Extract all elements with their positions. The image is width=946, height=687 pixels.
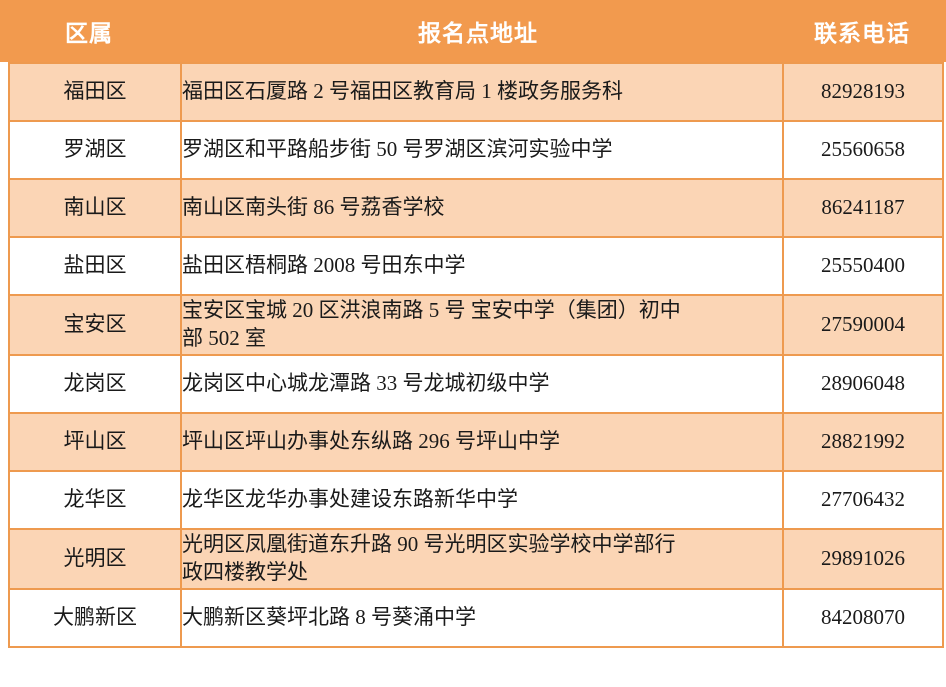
column-header-district: 区属 <box>0 14 178 48</box>
table-row: 盐田区盐田区梧桐路 2008 号田东中学25550400 <box>9 237 943 295</box>
column-header-phone: 联系电话 <box>778 14 946 48</box>
cell-district: 龙华区 <box>9 471 181 529</box>
address-line: 罗湖区和平路船步街 50 号罗湖区滨河实验中学 <box>182 136 782 164</box>
table-row: 南山区南山区南头街 86 号荔香学校86241187 <box>9 179 943 237</box>
cell-address: 龙岗区中心城龙潭路 33 号龙城初级中学 <box>181 355 783 413</box>
table-row: 龙岗区龙岗区中心城龙潭路 33 号龙城初级中学28906048 <box>9 355 943 413</box>
address-line: 龙岗区中心城龙潭路 33 号龙城初级中学 <box>182 370 782 398</box>
cell-address: 坪山区坪山办事处东纵路 296 号坪山中学 <box>181 413 783 471</box>
cell-district: 坪山区 <box>9 413 181 471</box>
cell-district: 福田区 <box>9 63 181 121</box>
cell-phone: 29891026 <box>783 529 943 589</box>
cell-district: 罗湖区 <box>9 121 181 179</box>
address-line: 龙华区龙华办事处建设东路新华中学 <box>182 486 782 514</box>
cell-address: 罗湖区和平路船步街 50 号罗湖区滨河实验中学 <box>181 121 783 179</box>
cell-address: 龙华区龙华办事处建设东路新华中学 <box>181 471 783 529</box>
cell-district: 南山区 <box>9 179 181 237</box>
cell-phone: 82928193 <box>783 63 943 121</box>
address-line: 光明区凤凰街道东升路 90 号光明区实验学校中学部行 <box>182 531 782 559</box>
cell-address: 大鹏新区葵坪北路 8 号葵涌中学 <box>181 589 783 647</box>
cell-district: 龙岗区 <box>9 355 181 413</box>
table-row: 坪山区坪山区坪山办事处东纵路 296 号坪山中学28821992 <box>9 413 943 471</box>
cell-phone: 27706432 <box>783 471 943 529</box>
column-header-address: 报名点地址 <box>178 14 778 48</box>
table-row: 龙华区龙华区龙华办事处建设东路新华中学27706432 <box>9 471 943 529</box>
cell-phone: 25550400 <box>783 237 943 295</box>
cell-address: 福田区石厦路 2 号福田区教育局 1 楼政务服务科 <box>181 63 783 121</box>
cell-phone: 84208070 <box>783 589 943 647</box>
address-line: 大鹏新区葵坪北路 8 号葵涌中学 <box>182 604 782 632</box>
table-body: 福田区福田区石厦路 2 号福田区教育局 1 楼政务服务科82928193罗湖区罗… <box>8 62 944 648</box>
table-row: 福田区福田区石厦路 2 号福田区教育局 1 楼政务服务科82928193 <box>9 63 943 121</box>
cell-phone: 27590004 <box>783 295 943 355</box>
cell-address: 南山区南头街 86 号荔香学校 <box>181 179 783 237</box>
address-line: 宝安区宝城 20 区洪浪南路 5 号 宝安中学（集团）初中 <box>182 297 782 325</box>
cell-address: 盐田区梧桐路 2008 号田东中学 <box>181 237 783 295</box>
table-row: 宝安区宝安区宝城 20 区洪浪南路 5 号 宝安中学（集团）初中部 502 室2… <box>9 295 943 355</box>
registration-sites-table: 区属 报名点地址 联系电话 福田区福田区石厦路 2 号福田区教育局 1 楼政务服… <box>0 0 946 687</box>
address-line: 福田区石厦路 2 号福田区教育局 1 楼政务服务科 <box>182 78 782 106</box>
table-row: 罗湖区罗湖区和平路船步街 50 号罗湖区滨河实验中学25560658 <box>9 121 943 179</box>
address-line: 部 502 室 <box>182 325 782 353</box>
cell-phone: 28821992 <box>783 413 943 471</box>
table-row: 大鹏新区大鹏新区葵坪北路 8 号葵涌中学84208070 <box>9 589 943 647</box>
table-header-row: 区属 报名点地址 联系电话 <box>0 0 946 62</box>
table-row: 光明区光明区凤凰街道东升路 90 号光明区实验学校中学部行政四楼教学处29891… <box>9 529 943 589</box>
cell-phone: 28906048 <box>783 355 943 413</box>
address-line: 政四楼教学处 <box>182 559 782 587</box>
address-line: 盐田区梧桐路 2008 号田东中学 <box>182 252 782 280</box>
cell-district: 盐田区 <box>9 237 181 295</box>
cell-district: 大鹏新区 <box>9 589 181 647</box>
address-line: 南山区南头街 86 号荔香学校 <box>182 194 782 222</box>
cell-address: 宝安区宝城 20 区洪浪南路 5 号 宝安中学（集团）初中部 502 室 <box>181 295 783 355</box>
address-line: 坪山区坪山办事处东纵路 296 号坪山中学 <box>182 428 782 456</box>
cell-address: 光明区凤凰街道东升路 90 号光明区实验学校中学部行政四楼教学处 <box>181 529 783 589</box>
cell-district: 宝安区 <box>9 295 181 355</box>
cell-phone: 25560658 <box>783 121 943 179</box>
cell-district: 光明区 <box>9 529 181 589</box>
cell-phone: 86241187 <box>783 179 943 237</box>
